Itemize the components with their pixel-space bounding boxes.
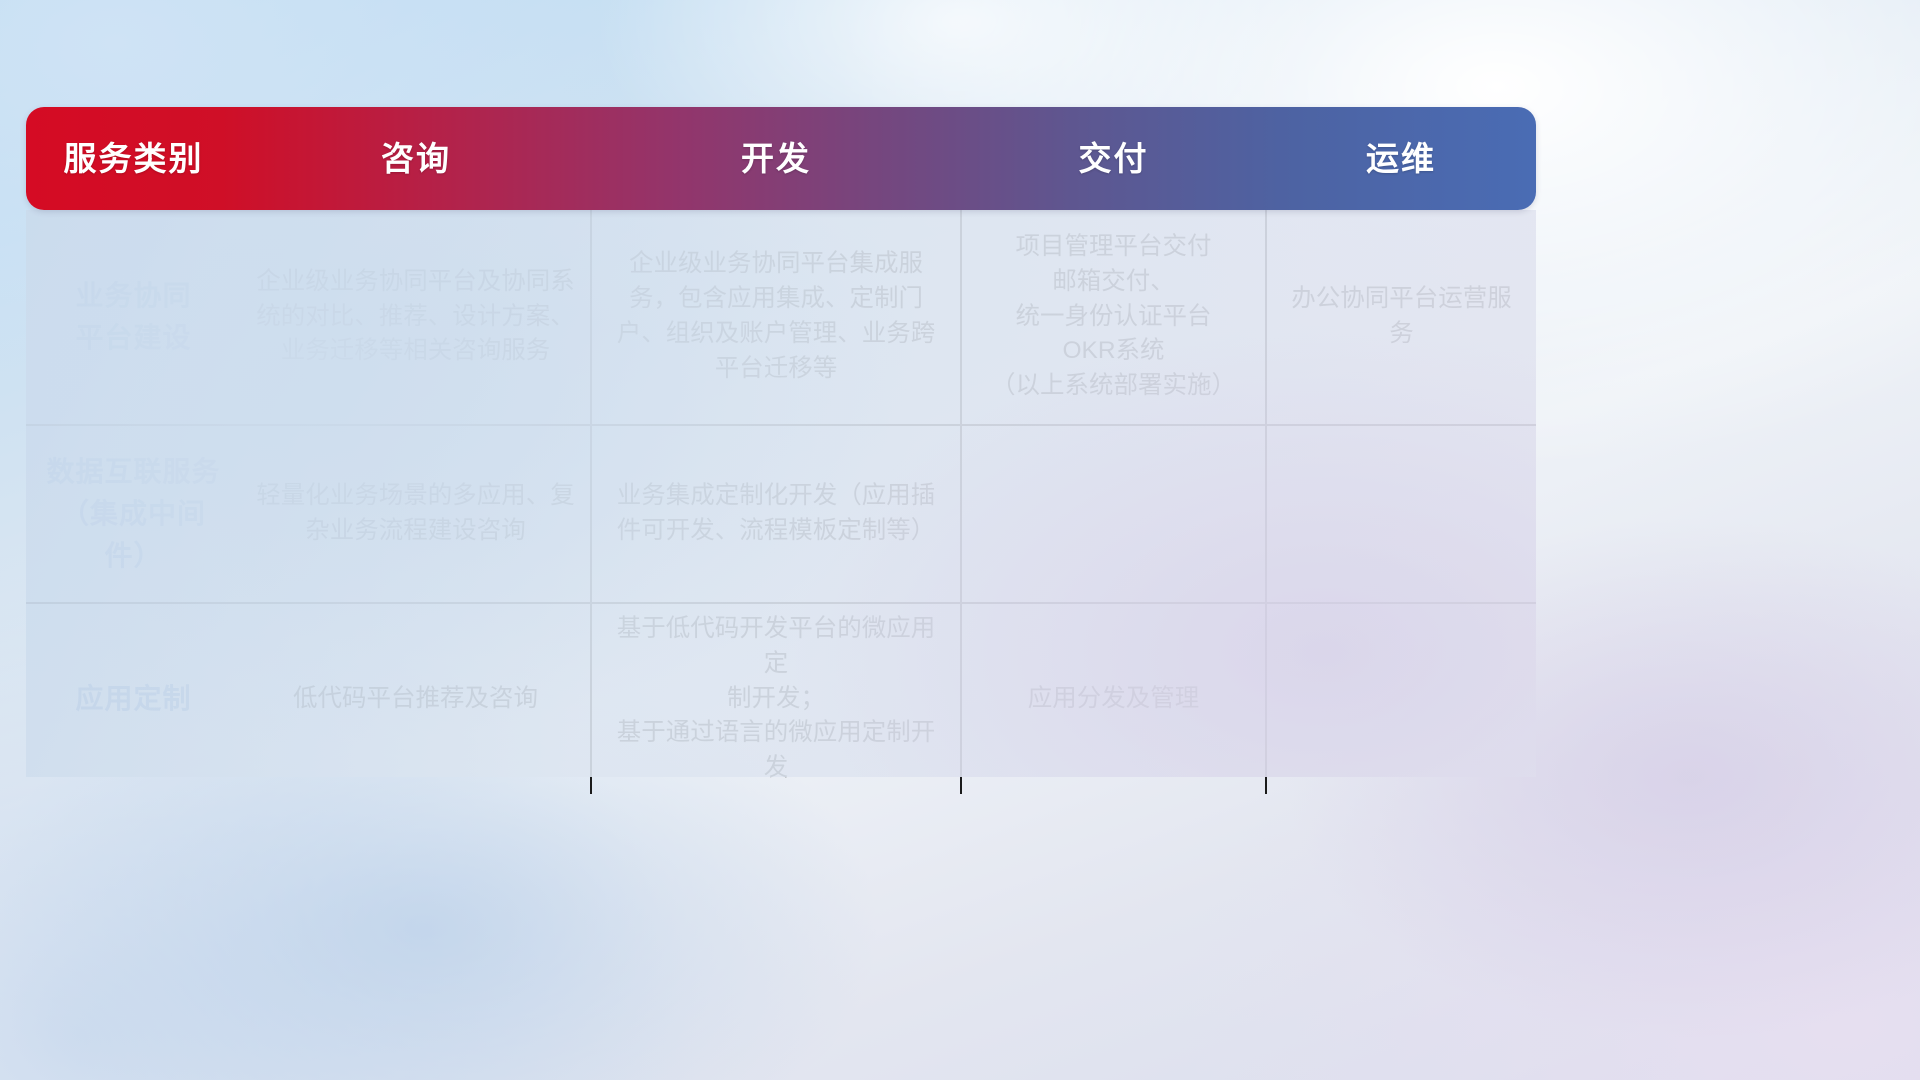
- cell-consulting: 企业级业务协同平台及协同系统的对比、推荐、设计方案、业务迁移等相关咨询服务: [241, 210, 591, 425]
- cell-operations: 办公协同平台运营服务: [1266, 210, 1536, 425]
- cell-operations: [1266, 425, 1536, 603]
- header-label-consulting: 咨询: [241, 107, 591, 210]
- cell-delivery: 应用分发及管理: [961, 603, 1266, 794]
- services-table: 服务类别 咨询 开发 交付 运维 业务协同 平台: [26, 107, 1536, 794]
- cell-consulting: 低代码平台推荐及咨询: [241, 603, 591, 794]
- header-label-operations: 运维: [1266, 107, 1536, 210]
- cell-delivery: [961, 425, 1266, 603]
- service-category-table: 服务类别 咨询 开发 交付 运维 业务协同 平台: [26, 107, 1536, 777]
- category-line: 应用定制: [40, 678, 227, 720]
- table-row: 业务协同 平台建设 企业级业务协同平台及协同系统的对比、推荐、设计方案、业务迁移…: [26, 210, 1536, 425]
- delivery-line: 统一身份认证平台: [976, 300, 1251, 335]
- header-cell-development: 开发: [591, 107, 961, 210]
- header-cell-operations: 运维: [1266, 107, 1536, 210]
- cell-operations: [1266, 603, 1536, 794]
- development-line: 制开发；: [606, 682, 946, 717]
- category-line: （集成中间件）: [40, 493, 227, 577]
- table-row: 数据互联服务 （集成中间件） 轻量化业务场景的多应用、复杂业务流程建设咨询 业务…: [26, 425, 1536, 603]
- row-category-label: 业务协同 平台建设: [26, 210, 241, 425]
- cell-delivery: 项目管理平台交付 邮箱交付、 统一身份认证平台 OKR系统 （以上系统部署实施）: [961, 210, 1266, 425]
- header-cell-category: 服务类别: [26, 107, 241, 210]
- row-category-label: 数据互联服务 （集成中间件）: [26, 425, 241, 603]
- category-line: 业务协同: [40, 275, 227, 317]
- delivery-line: 项目管理平台交付: [976, 230, 1251, 265]
- delivery-line: 应用分发及管理: [976, 682, 1251, 717]
- cell-development: 企业级业务协同平台集成服务，包含应用集成、定制门户、组织及账户管理、业务跨平台迁…: [591, 210, 961, 425]
- table-header: 服务类别 咨询 开发 交付 运维: [26, 107, 1536, 210]
- delivery-line: （以上系统部署实施）: [976, 369, 1251, 404]
- delivery-line: 邮箱交付、: [976, 265, 1251, 300]
- header-label-category: 服务类别: [26, 107, 241, 210]
- header-label-development: 开发: [591, 107, 961, 210]
- table-row: 应用定制 低代码平台推荐及咨询 基于低代码开发平台的微应用定 制开发； 基于通过…: [26, 603, 1536, 794]
- development-line: 基于通过语言的微应用定制开发: [606, 716, 946, 786]
- development-line: 基于低代码开发平台的微应用定: [606, 612, 946, 682]
- cell-consulting: 轻量化业务场景的多应用、复杂业务流程建设咨询: [241, 425, 591, 603]
- header-cell-delivery: 交付: [961, 107, 1266, 210]
- table-header-row: 服务类别 咨询 开发 交付 运维: [26, 107, 1536, 210]
- cell-development: 业务集成定制化开发（应用插件可开发、流程模板定制等）: [591, 425, 961, 603]
- table-body: 业务协同 平台建设 企业级业务协同平台及协同系统的对比、推荐、设计方案、业务迁移…: [26, 210, 1536, 794]
- header-cell-consulting: 咨询: [241, 107, 591, 210]
- row-category-label: 应用定制: [26, 603, 241, 794]
- delivery-line: OKR系统: [976, 334, 1251, 369]
- cell-development: 基于低代码开发平台的微应用定 制开发； 基于通过语言的微应用定制开发: [591, 603, 961, 794]
- header-label-delivery: 交付: [961, 107, 1266, 210]
- category-line: 数据互联服务: [40, 451, 227, 493]
- category-line: 平台建设: [40, 317, 227, 359]
